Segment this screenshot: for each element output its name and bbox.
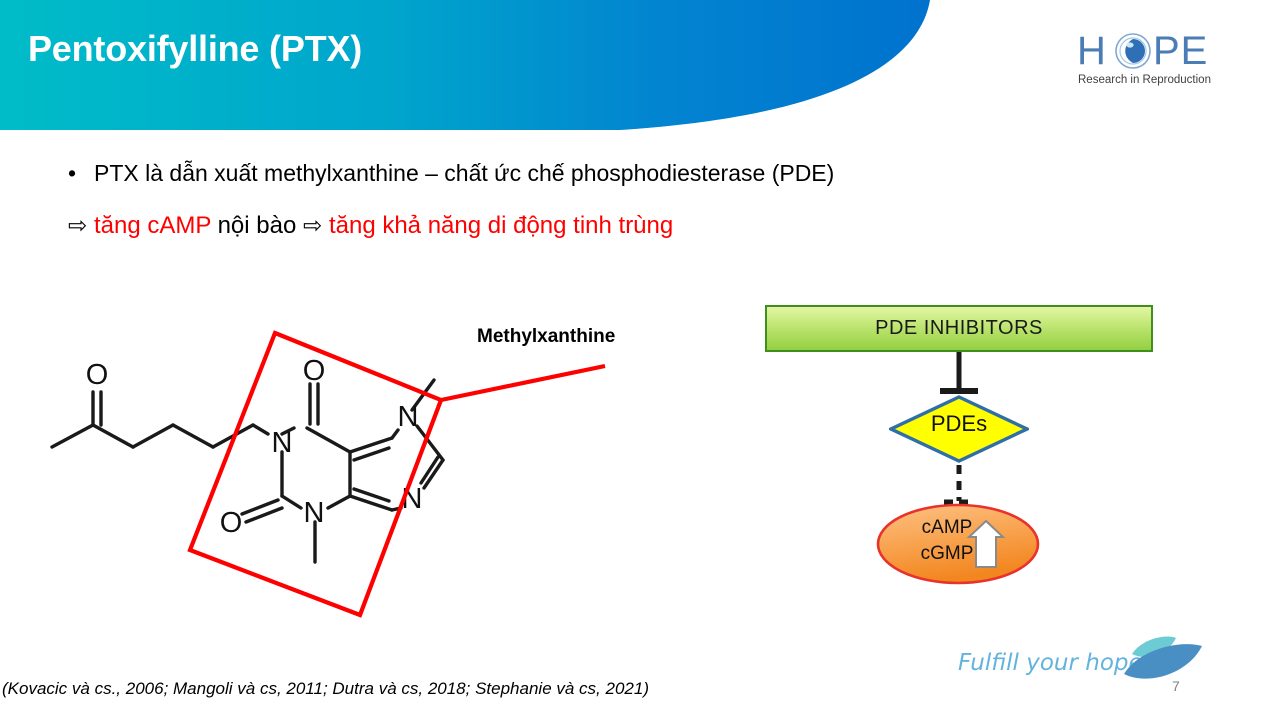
bullet-marker: • <box>68 160 94 187</box>
pdes-label: PDEs <box>889 411 1029 437</box>
emphasis-camp: tăng cAMP <box>94 212 211 239</box>
hope-logo: H PE Research in Reproduction <box>1075 28 1220 90</box>
methylxanthine-label: Methylxanthine <box>477 326 615 348</box>
svg-text:PE: PE <box>1153 29 1208 73</box>
camp-cgmp-text: cAMP cGMP <box>897 515 997 567</box>
text-noi-bao: nội bào <box>218 212 297 239</box>
arrow-right-icon-2: ⇨ <box>303 212 322 238</box>
emphasis-motility: tăng khả năng di động tinh trùng <box>329 212 673 239</box>
highlight-leader-line <box>441 366 605 400</box>
pde-pathway-diagram: PDE INHIBITORS PDEs <box>755 295 1175 585</box>
bullet-item-2: ⇨ tăng cAMP nội bào ⇨ tăng khả năng di đ… <box>68 212 673 240</box>
page-title: Pentoxifylline (PTX) <box>28 28 362 70</box>
bullet-text-1: PTX là dẫn xuất methylxanthine – chất ức… <box>94 160 834 186</box>
slide-canvas: Pentoxifylline (PTX) H PE Research in Re… <box>0 0 1280 720</box>
atom-N1: N <box>272 427 293 459</box>
arrow-right-icon-1: ⇨ <box>68 212 87 238</box>
leaf-logo-mark <box>1110 634 1216 686</box>
leaf-dark-icon <box>1124 644 1202 679</box>
citation-text: (Kovacic và cs., 2006; Mangoli và cs, 20… <box>2 679 649 699</box>
cgmp-line: cGMP <box>897 541 997 567</box>
atom-O-ketone: O <box>86 359 109 391</box>
eye-cell-icon <box>1116 34 1150 68</box>
bullet-item-1: •PTX là dẫn xuất methylxanthine – chất ứ… <box>68 160 1168 187</box>
logo-tagline: Research in Reproduction <box>1078 74 1211 86</box>
inhibition-arrow-icon <box>940 352 978 391</box>
atom-O-c2: O <box>220 507 243 539</box>
atom-O-c6: O <box>303 355 326 387</box>
dashed-connector-icon <box>944 465 974 502</box>
atom-N7: N <box>398 401 419 433</box>
page-number: 7 <box>1172 678 1180 694</box>
atom-N3: N <box>304 497 325 529</box>
svg-text:H: H <box>1077 29 1107 73</box>
camp-line: cAMP <box>897 515 997 541</box>
pentoxifylline-structure: O O O N N N N <box>20 300 680 640</box>
